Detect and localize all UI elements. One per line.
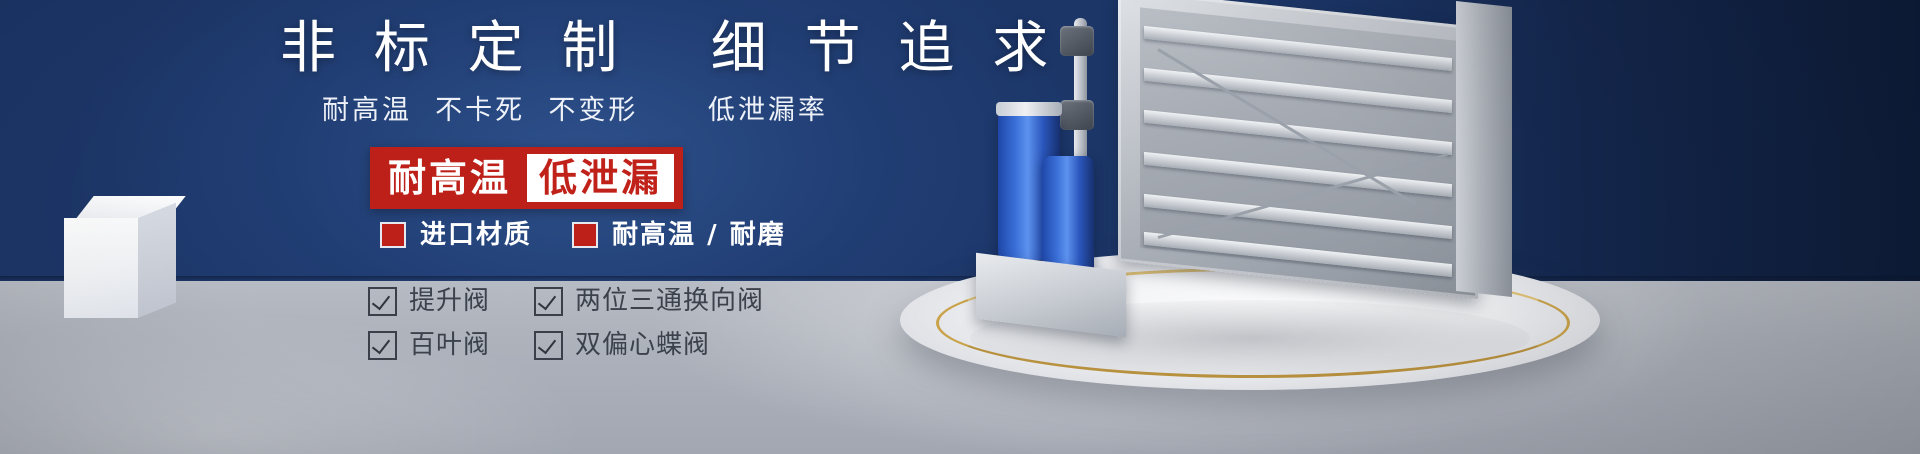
actuator-cap — [996, 102, 1062, 116]
red-square-icon — [380, 222, 406, 248]
checklist-label: 两位三通换向阀 — [575, 286, 764, 316]
feature-bullet-row: 进口材质 耐高温 / 耐磨 — [380, 220, 786, 250]
badge-high-temperature-label: 耐高温 — [384, 154, 527, 202]
blue-hydraulic-actuator — [984, 110, 1144, 340]
louvre-damper-body — [1118, 8, 1548, 318]
feature-bullet-label: 耐高温 / 耐磨 — [612, 220, 786, 250]
red-square-icon — [572, 222, 598, 248]
checkbox-checked-icon — [534, 331, 563, 360]
headline: 非 标 定 制 细 节 追 求 — [280, 16, 900, 82]
actuator-base-skid — [976, 253, 1126, 337]
damper-linkage-joint — [1060, 26, 1094, 56]
checklist-item: 双偏心蝶阀 — [534, 326, 764, 364]
badge-low-leakage-label: 低泄漏 — [527, 154, 674, 202]
damper-side-column — [1456, 1, 1512, 297]
checklist-label: 提升阀 — [409, 286, 490, 316]
feature-badge: 耐高温 低泄漏 — [370, 147, 683, 209]
checklist-item: 提升阀 — [368, 282, 490, 320]
feature-bullet-label: 进口材质 — [420, 220, 532, 250]
banner-copy: 非 标 定 制 细 节 追 求 耐高温 不卡死 不变形 低泄漏率 耐高温 低泄漏… — [0, 0, 900, 454]
checklist-label: 双偏心蝶阀 — [575, 330, 710, 360]
checklist-label: 百叶阀 — [409, 330, 490, 360]
checklist-item: 两位三通换向阀 — [534, 282, 764, 320]
checkbox-checked-icon — [368, 331, 397, 360]
checkbox-checked-icon — [534, 287, 563, 316]
checkbox-checked-icon — [368, 287, 397, 316]
promo-banner: 非 标 定 制 细 节 追 求 耐高温 不卡死 不变形 低泄漏率 耐高温 低泄漏… — [0, 0, 1920, 454]
feature-bullet: 进口材质 — [380, 220, 532, 250]
subheadline: 耐高温 不卡死 不变形 低泄漏率 — [322, 92, 882, 130]
feature-bullet: 耐高温 / 耐磨 — [572, 220, 786, 250]
product-checklist: 提升阀 两位三通换向阀 百叶阀 双偏心蝶阀 — [368, 282, 764, 364]
checklist-item: 百叶阀 — [368, 326, 490, 364]
